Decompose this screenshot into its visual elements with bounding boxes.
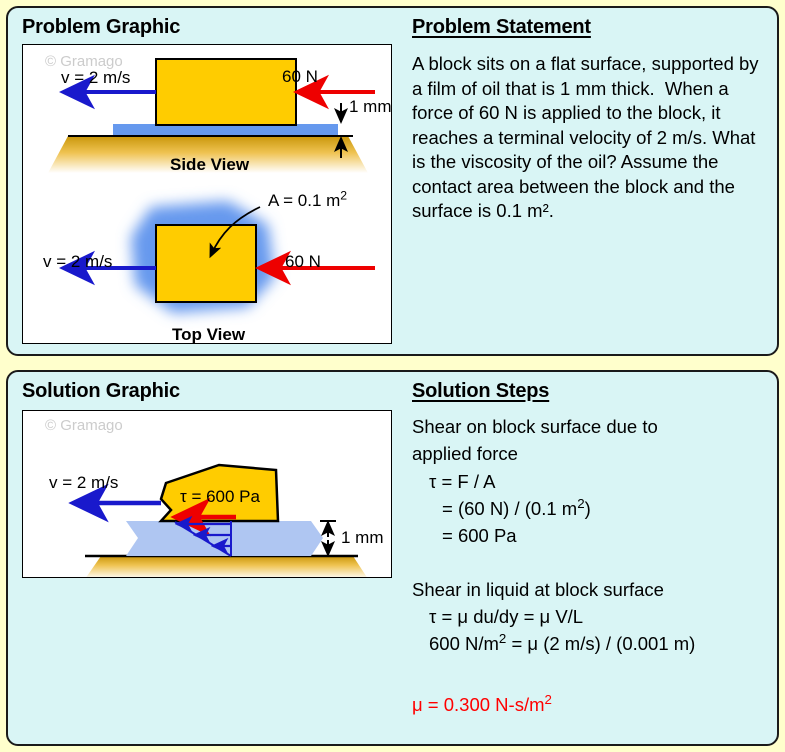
oil-layer-solution — [126, 521, 323, 556]
step-equation-2-exponent: 2 — [577, 496, 584, 511]
area-label-text: A = 0.1 m — [268, 191, 340, 210]
block-top — [156, 225, 256, 302]
top-view-force-label: 60 N — [285, 252, 321, 272]
final-answer-text: μ = 0.300 N-s/m — [412, 694, 545, 715]
solution-panel: Solution Graphic Solution Steps © Gramag… — [6, 370, 779, 746]
step-equation-2-text: = (60 N) / (0.1 m — [442, 498, 577, 519]
step-equation-5: 600 N/m2 = μ (2 m/s) / (0.001 m) — [429, 633, 695, 655]
problem-graphic-title: Problem Graphic — [22, 16, 180, 39]
side-view-caption: Side View — [170, 155, 249, 175]
top-view-caption: Top View — [172, 325, 245, 344]
shear-stress-label: τ = 600 Pa — [180, 487, 260, 507]
step-heading-1-line-1: Shear on block surface due to — [412, 416, 658, 438]
problem-graphic-box: © Gramago — [22, 44, 392, 344]
area-label-exponent: 2 — [340, 188, 347, 202]
step-heading-1-line-2: applied force — [412, 443, 518, 465]
side-view-velocity-label: v = 2 m/s — [61, 68, 130, 88]
step-equation-5-suffix: = μ (2 m/s) / (0.001 m) — [506, 633, 695, 654]
solution-graphic-title: Solution Graphic — [22, 380, 180, 403]
step-equation-5-text: 600 N/m — [429, 633, 499, 654]
final-answer: μ = 0.300 N-s/m2 — [412, 694, 552, 716]
step-equation-2: = (60 N) / (0.1 m2) — [442, 498, 591, 520]
top-view-area-label: A = 0.1 m2 — [268, 191, 347, 211]
problem-statement-text: A block sits on a flat surface, supporte… — [412, 52, 772, 224]
step-equation-3: = 600 Pa — [442, 525, 517, 547]
solution-velocity-label: v = 2 m/s — [49, 473, 118, 493]
step-equation-2-suffix: ) — [585, 498, 591, 519]
solution-graphic-box: © Gramago — [22, 410, 392, 578]
side-view-gap-label: 1 mm — [349, 97, 392, 117]
ground-surface-solution — [85, 556, 368, 578]
final-answer-exponent: 2 — [545, 692, 552, 707]
solution-gap-label: 1 mm — [341, 528, 384, 548]
problem-panel: Problem Graphic Problem Statement A bloc… — [6, 6, 779, 356]
step-equation-1: τ = F / A — [429, 471, 495, 493]
solution-steps-title: Solution Steps — [412, 380, 549, 403]
step-equation-4: τ = μ du/dy = μ V/L — [429, 606, 583, 628]
problem-statement-title: Problem Statement — [412, 16, 591, 39]
block-side — [156, 59, 296, 125]
side-view-force-label: 60 N — [282, 67, 318, 87]
step-heading-2: Shear in liquid at block surface — [412, 579, 664, 601]
top-view-velocity-label: v = 2 m/s — [43, 252, 112, 272]
